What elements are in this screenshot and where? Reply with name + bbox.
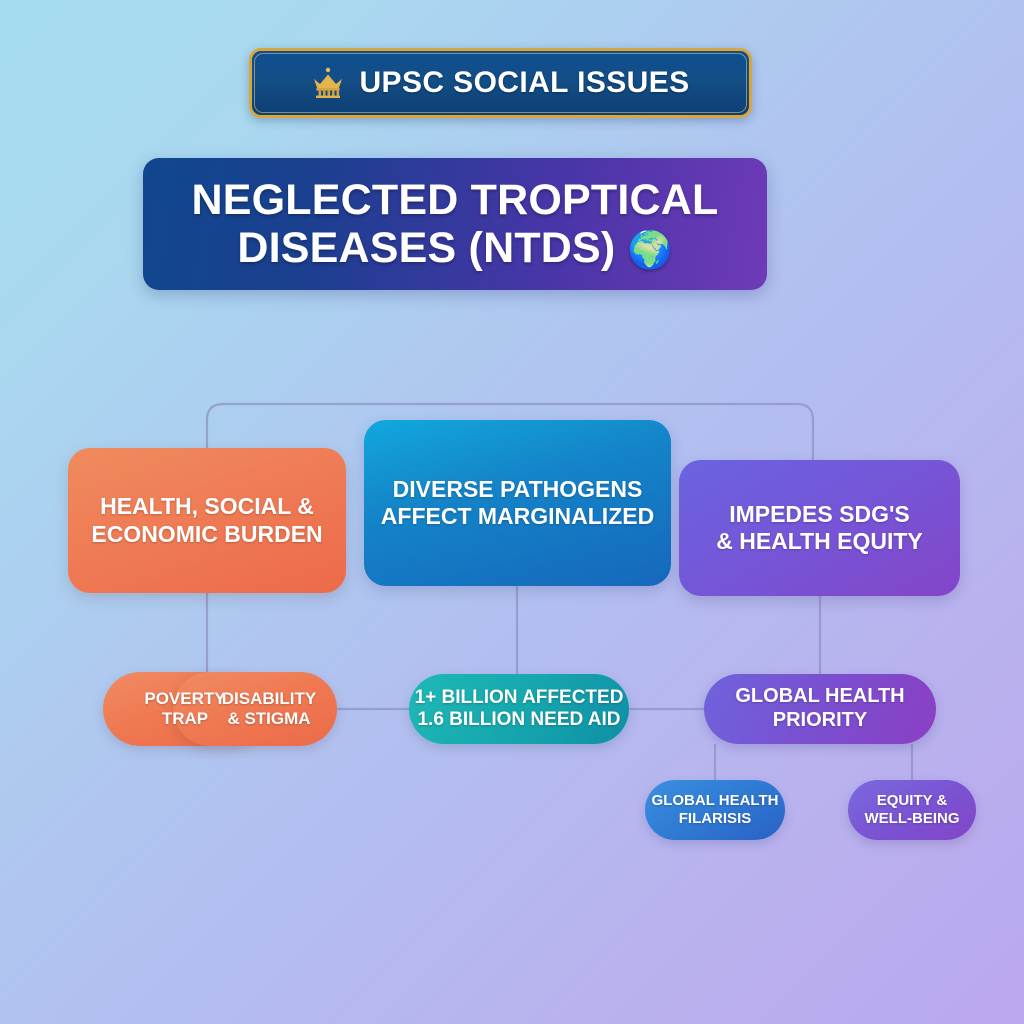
globe-icon: 🌍 xyxy=(628,229,673,270)
main-title-band: NEGLECTED TROPTICAL DISEASES (NTDS) 🌍 xyxy=(143,158,767,290)
node-label: DISABILITY& STIGMA xyxy=(203,672,335,746)
badge-label: UPSC SOCIAL ISSUES xyxy=(359,66,689,100)
node-group-burden-children: POVERTYTRAP DISABILITY& STIGMA xyxy=(103,672,337,746)
node-label: GLOBAL HEALTHPRIORITY xyxy=(735,685,904,732)
title-line-1: NEGLECTED TROPTICAL xyxy=(192,176,719,224)
node-label: GLOBAL HEALTH FILARISIS xyxy=(652,792,779,827)
node-billion-affected[interactable]: 1+ BILLION AFFECTED1.6 BILLION NEED AID xyxy=(409,674,629,744)
node-impedes-sdgs[interactable]: IMPEDES SDG'S& HEALTH EQUITY xyxy=(679,460,960,596)
page-title: NEGLECTED TROPTICAL DISEASES (NTDS) 🌍 xyxy=(170,176,741,272)
title-line-2: DISEASES (NTDS) xyxy=(237,224,615,272)
infographic-canvas: UPSC SOCIAL ISSUES NEGLECTED TROPTICAL D… xyxy=(0,0,1024,1024)
node-label-line-1: GLOBAL HEALTH xyxy=(652,792,779,810)
crown-icon xyxy=(311,67,345,99)
node-label: DIVERSE PATHOGENSAFFECT MARGINALIZED xyxy=(381,476,654,530)
node-label: IMPEDES SDG'S& HEALTH EQUITY xyxy=(716,501,923,555)
header-badge: UPSC SOCIAL ISSUES xyxy=(249,48,752,118)
node-global-health-filarisis[interactable]: GLOBAL HEALTH FILARISIS xyxy=(645,780,785,840)
node-label: 1+ BILLION AFFECTED1.6 BILLION NEED AID xyxy=(415,687,624,732)
node-label: HEALTH, SOCIAL &ECONOMIC BURDEN xyxy=(91,493,322,547)
node-global-health-priority[interactable]: GLOBAL HEALTHPRIORITY xyxy=(704,674,936,744)
node-label: EQUITY & WELL-BEING xyxy=(865,792,960,827)
node-label-line-2: FILARISIS xyxy=(679,810,752,827)
node-label-line-1: EQUITY & xyxy=(877,792,948,809)
node-label-line-2: WELL-BEING xyxy=(865,810,960,827)
node-diverse-pathogens[interactable]: DIVERSE PATHOGENSAFFECT MARGINALIZED xyxy=(364,420,671,586)
node-health-social-economic-burden[interactable]: HEALTH, SOCIAL &ECONOMIC BURDEN xyxy=(68,448,346,593)
node-equity-wellbeing[interactable]: EQUITY & WELL-BEING xyxy=(848,780,976,840)
